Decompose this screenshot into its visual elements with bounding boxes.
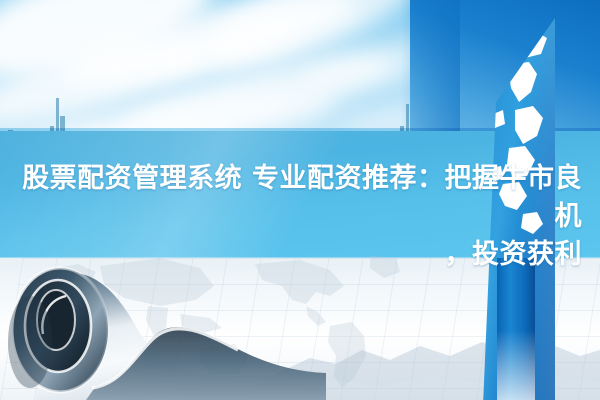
tower-lower-fade (497, 330, 535, 400)
stock-financing-banner: 股票配资管理系统 专业配资推荐：把握牛市良机 ，投资获利 (0, 0, 600, 400)
page-title: 股票配资管理系统 专业配资推荐：把握牛市良机 ，投资获利 (0, 160, 582, 274)
curled-paper-roll-icon (0, 256, 326, 400)
